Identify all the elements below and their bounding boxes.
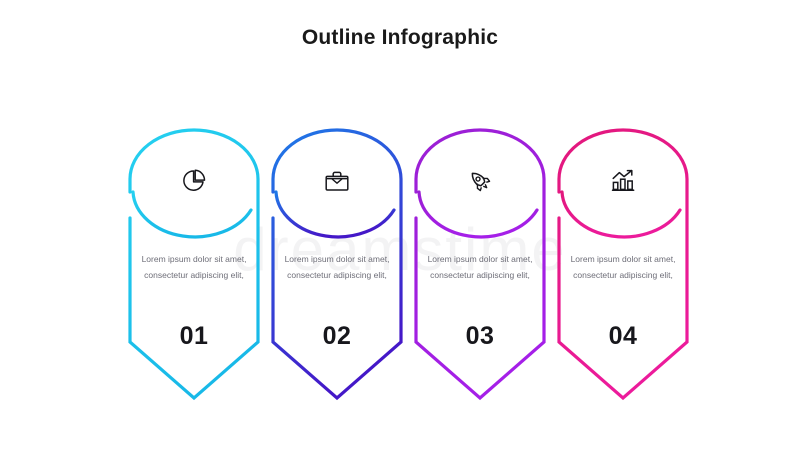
infographic-card-2[interactable]: Lorem ipsum dolor sit amet, consectetur … (267, 130, 407, 405)
card-body-text: Lorem ipsum dolor sit amet, consectetur … (277, 252, 397, 283)
infographic-card-3[interactable]: Lorem ipsum dolor sit amet, consectetur … (410, 130, 550, 405)
page-title: Outline Infographic (0, 26, 800, 50)
infographic-card-4[interactable]: Lorem ipsum dolor sit amet, consectetur … (553, 130, 693, 405)
card-step-number: 03 (410, 322, 550, 351)
card-step-number: 01 (124, 322, 264, 351)
infographic-card-1[interactable]: Lorem ipsum dolor sit amet, consectetur … (124, 130, 264, 405)
bar-chart-growth-icon (553, 158, 693, 204)
card-body-text: Lorem ipsum dolor sit amet, consectetur … (420, 252, 540, 283)
card-step-number: 04 (553, 322, 693, 351)
card-body-text: Lorem ipsum dolor sit amet, consectetur … (563, 252, 683, 283)
card-step-number: 02 (267, 322, 407, 351)
cards-container: Lorem ipsum dolor sit amet, consectetur … (0, 130, 800, 410)
rocket-icon (410, 158, 550, 204)
card-body-text: Lorem ipsum dolor sit amet, consectetur … (134, 252, 254, 283)
pie-chart-icon (124, 158, 264, 204)
briefcase-icon (267, 158, 407, 204)
infographic-page: Outline Infographic dreamstime (0, 0, 800, 450)
